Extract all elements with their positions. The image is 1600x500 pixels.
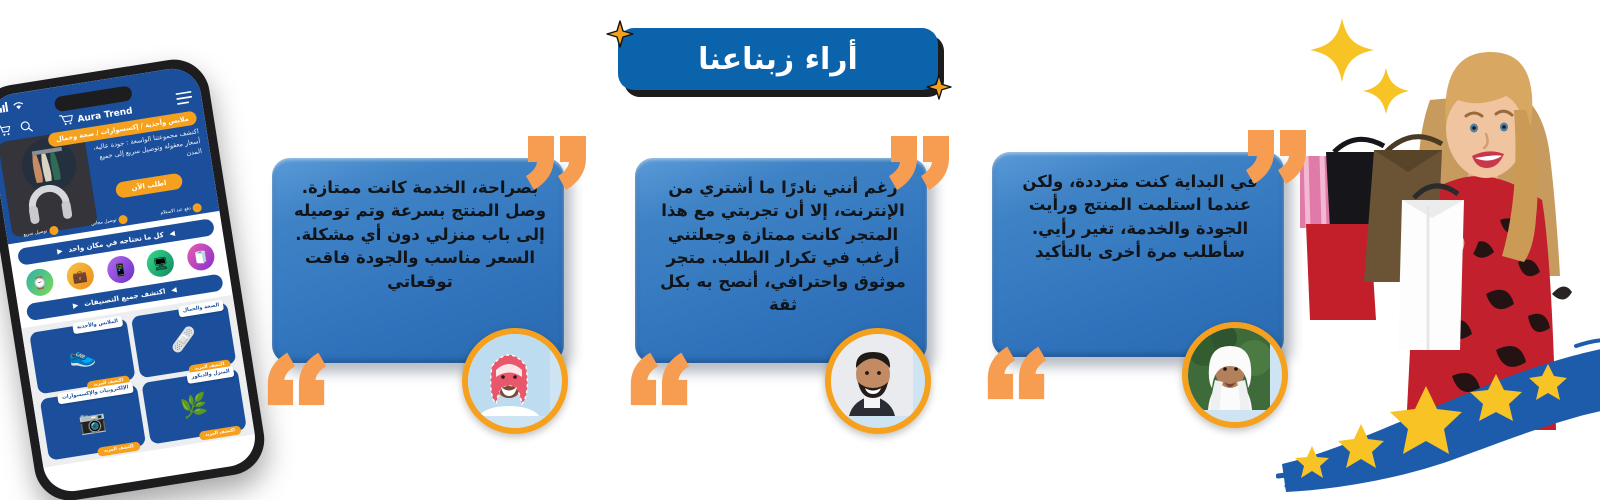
page-title: أراء زبناعنا — [698, 42, 858, 77]
truck-icon — [118, 214, 128, 224]
phone-mockup: Aura Trend ملابس وأحذية — [0, 54, 269, 500]
badge-label: توصيل سريع — [23, 229, 47, 238]
sneaker-icon: 👟 — [67, 342, 98, 371]
quote-open-icon — [260, 341, 332, 415]
product-label: الملابس والأحذية — [72, 316, 122, 334]
badge-label: دفع عند الاستلام — [160, 206, 191, 216]
banner-body: أراء زبناعنا — [618, 28, 938, 90]
testimonial-card-3[interactable]: في البداية كنت مترددة، ولكن عندما استلمت… — [992, 152, 1292, 367]
product-button[interactable]: اكتشف المزيد — [199, 425, 242, 440]
chevron-right-icon: ▶ — [56, 247, 63, 256]
testimonial-text: في البداية كنت مترددة، ولكن عندما استلمت… — [1010, 170, 1270, 264]
badge-label: توصيل مجاني — [91, 218, 117, 227]
category-circle-phone[interactable]: 📱 — [105, 254, 136, 285]
shopping-cart-icon — [59, 113, 75, 130]
quote-open-icon — [623, 341, 695, 415]
signal-bars-icon — [0, 96, 10, 117]
product-label: الصحة والجمال — [178, 300, 224, 317]
order-now-button[interactable]: اطلب الآن — [114, 172, 183, 198]
category-circle-perfume[interactable]: 🧻 — [185, 241, 216, 272]
phone-screen: Aura Trend ملابس وأحذية — [0, 65, 259, 496]
cart-icon[interactable] — [0, 121, 13, 142]
chevron-left-icon: ◀ — [169, 229, 176, 238]
home-decor-icon: 🌿 — [178, 392, 209, 421]
chevron-left-icon: ◀ — [171, 285, 178, 294]
chevron-right-icon: ▶ — [72, 301, 79, 310]
section-bar-top-label: كل ما تحتاجه في مكان واحد — [68, 230, 165, 253]
hamburger-menu-icon[interactable] — [175, 88, 194, 109]
rating-banner — [1276, 336, 1600, 496]
sparkle-icon — [1310, 18, 1374, 82]
avatar — [462, 328, 568, 434]
electronics-icon: 📷 — [77, 408, 108, 437]
category-circle-bag[interactable]: 💼 — [65, 261, 96, 292]
product-card-electronics[interactable]: 📷 الإلكترونيات والإكسسوارات اكتشف المزيد — [40, 384, 146, 460]
wifi-icon — [11, 94, 26, 115]
search-icon[interactable] — [19, 117, 35, 138]
product-grid: 👟 الملابس والأحذية اكتشف المزيد 🩹 الصحة … — [21, 295, 254, 468]
avatar — [1182, 322, 1288, 428]
testimonial-card-2[interactable]: رغم أنني نادرًا ما أشتري من الإنترنت، إل… — [635, 158, 935, 373]
sparkle-icon — [1363, 68, 1409, 114]
product-card-home[interactable]: 🌿 المنزل والديكور اكتشف المزيد — [141, 368, 247, 444]
page-title-banner: أراء زبناعنا — [618, 28, 938, 90]
quote-open-icon — [980, 335, 1052, 409]
cosmetics-icon: 🩹 — [168, 326, 199, 355]
category-circle-device[interactable]: 🖥 — [145, 248, 176, 279]
quote-close-icon — [520, 130, 594, 206]
product-button[interactable]: اكتشف المزيد — [97, 441, 140, 456]
testimonial-text: رغم أنني نادرًا ما أشتري من الإنترنت، إل… — [653, 176, 913, 317]
cash-icon — [192, 203, 202, 213]
section-bar-bottom-label: اكتشف جميع التصنيفات — [83, 287, 165, 308]
category-circle-watch[interactable]: ⌚ — [24, 267, 55, 298]
testimonial-card-1[interactable]: بصراحة، الخدمة كانت ممتازة. وصل المنتج ب… — [272, 158, 572, 373]
testimonials-banner: Aura Trend ملابس وأحذية — [0, 0, 1600, 500]
avatar — [825, 328, 931, 434]
testimonial-text: بصراحة، الخدمة كانت ممتازة. وصل المنتج ب… — [290, 176, 550, 293]
quote-close-icon — [883, 130, 957, 206]
quote-close-icon — [1240, 124, 1314, 200]
clock-icon — [48, 225, 58, 235]
